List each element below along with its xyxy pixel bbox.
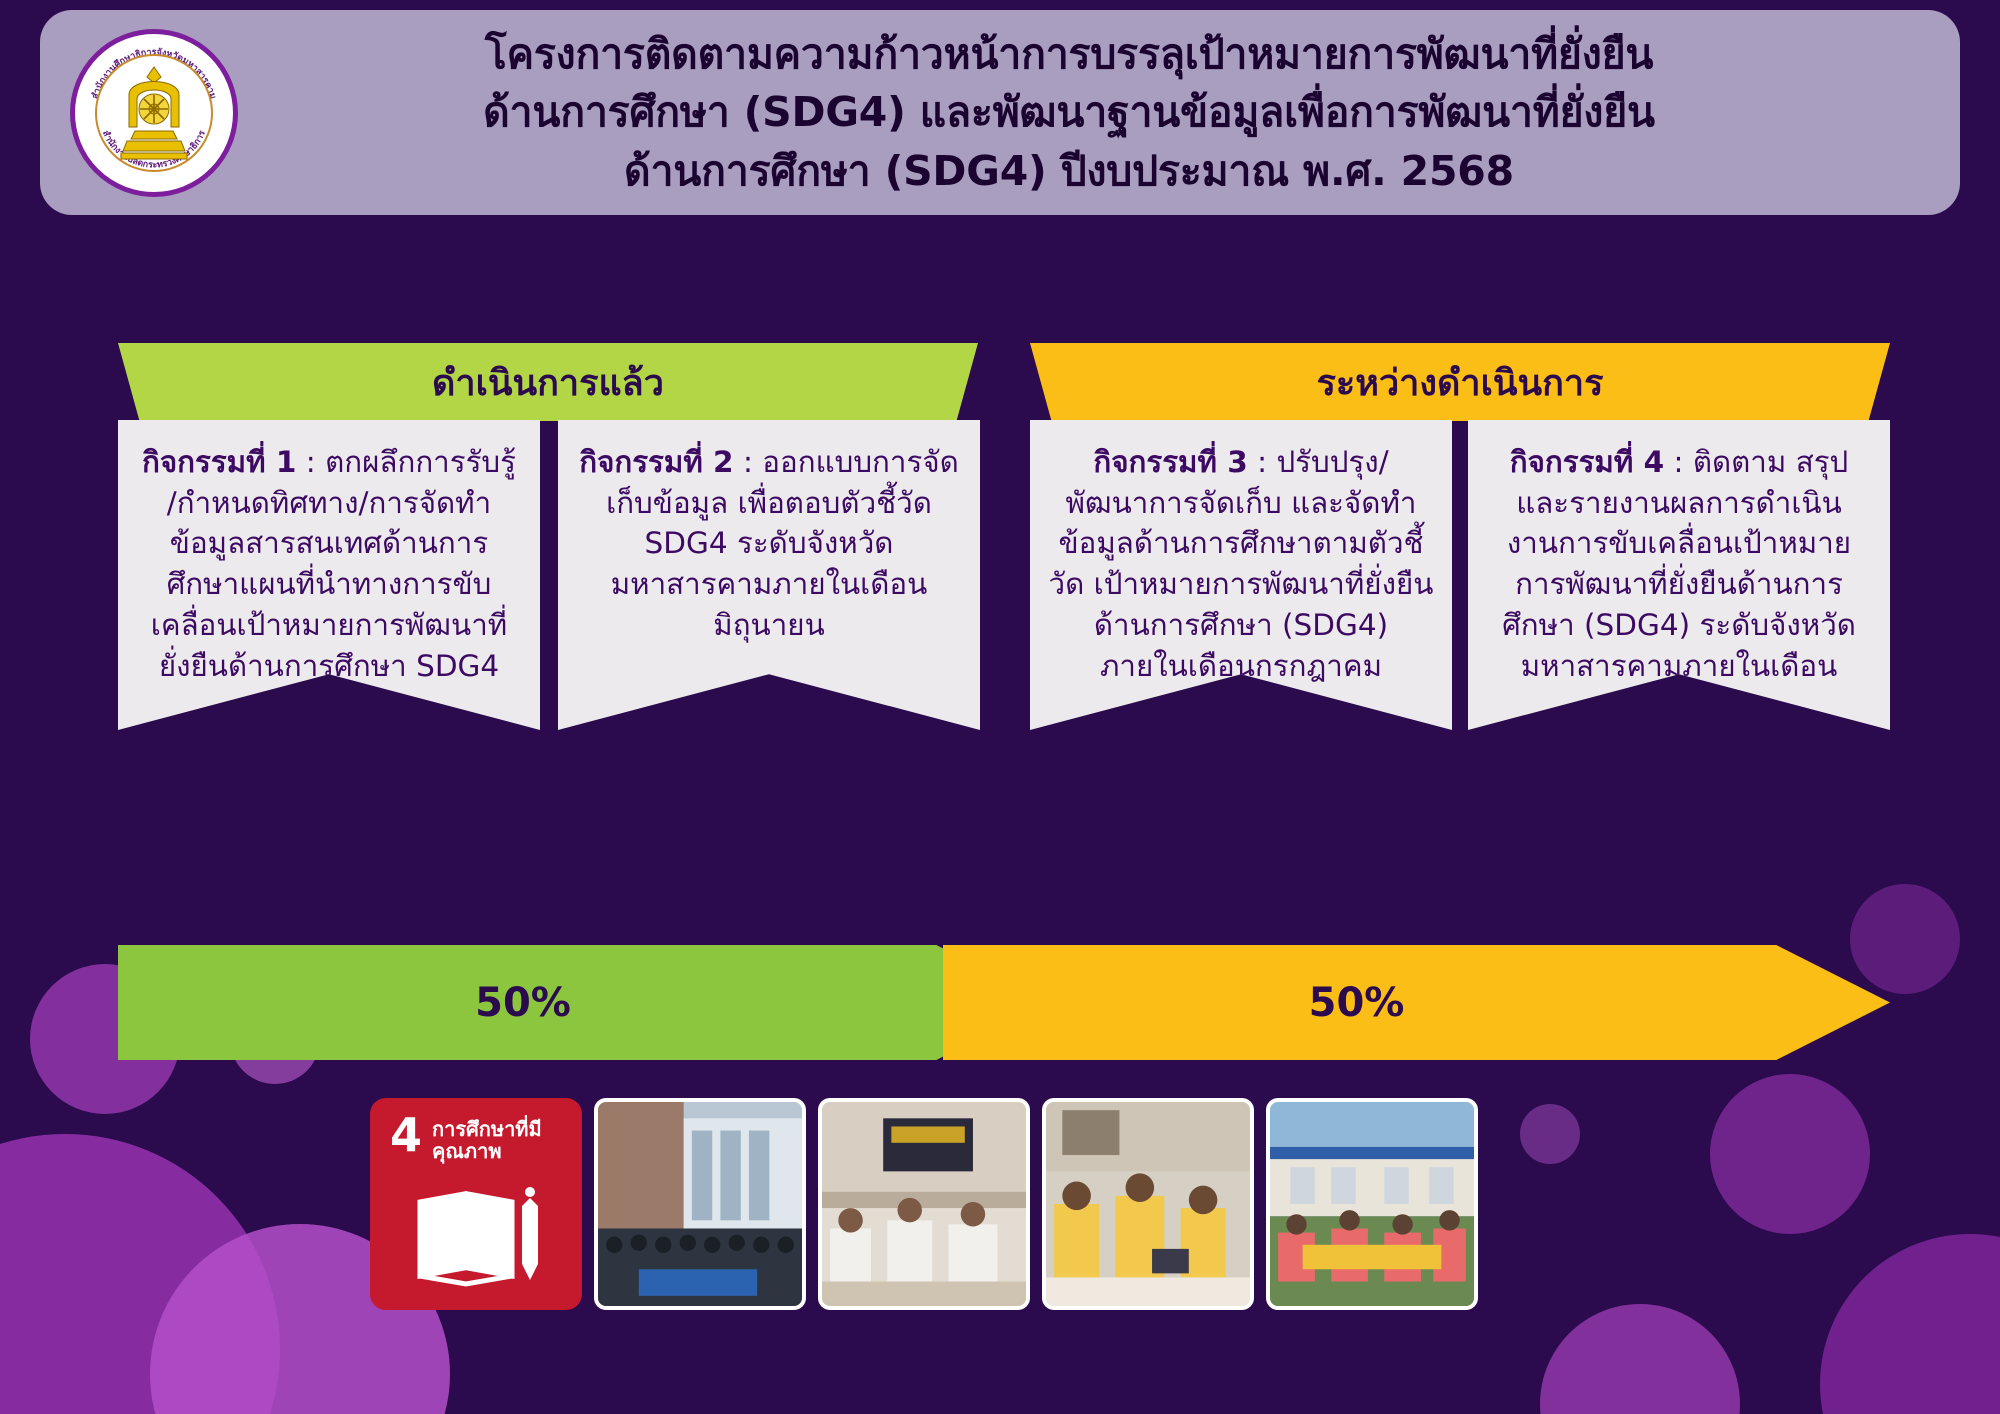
ministry-seal-logo: สำนักงานศึกษาธิการจังหวัดมหาสารคาม สำนัก… (70, 29, 238, 197)
activity-card-2: กิจกรรมที่ 2 : ออกแบบการจัดเก็บข้อมูล เพ… (558, 420, 980, 730)
progress-completed-percent: 50% (475, 980, 571, 1026)
photo-1-graphic (598, 1102, 802, 1306)
photo-seminar-participants (1042, 1098, 1254, 1310)
seal-inner-ring (95, 54, 213, 172)
activity-card-1-separator: : (296, 445, 325, 479)
sdg4-label: การศึกษาที่มีคุณภาพ (432, 1118, 574, 1162)
sdg4-number: 4 (390, 1112, 422, 1158)
infographic-page: สำนักงานศึกษาธิการจังหวัดมหาสารคาม สำนัก… (0, 0, 2000, 1414)
activity-card-1: กิจกรรมที่ 1 : ตกผลึกการรับรู้ /กำหนดทิศ… (118, 420, 540, 730)
status-banner-completed: ดำเนินการแล้ว (118, 343, 978, 421)
photo-4-graphic (1270, 1102, 1474, 1306)
photo-meeting-room-officials (818, 1098, 1030, 1310)
header-panel: สำนักงานศึกษาธิการจังหวัดมหาสารคาม สำนัก… (40, 10, 1960, 215)
activity-card-3-separator: : (1248, 445, 1277, 479)
progress-segment-in-progress: 50% (943, 945, 1890, 1060)
activity-card-4: กิจกรรมที่ 4 : ติดตาม สรุป และรายงานผลกา… (1468, 420, 1890, 730)
activity-card-1-body: ตกผลึกการรับรู้ /กำหนดทิศทาง/การจัดทำข้อ… (151, 445, 516, 723)
progress-bar: 50% 50% (118, 945, 1890, 1060)
status-banner-in-progress: ระหว่างดำเนินการ (1030, 343, 1890, 421)
title-line-1: โครงการติดตามความก้าวหน้าการบรรลุเป้าหมา… (248, 25, 1890, 83)
progress-segment-completed: 50% (118, 945, 1048, 1060)
title-line-3: ด้านการศึกษา (SDG4) ปีงบประมาณ พ.ศ. 2568 (248, 142, 1890, 200)
photo-3-graphic (1046, 1102, 1250, 1306)
activity-card-1-title: กิจกรรมที่ 1 (142, 445, 296, 479)
activity-card-4-body: ติดตาม สรุป และรายงานผลการดำเนินงานการขั… (1502, 445, 1856, 723)
page-title: โครงการติดตามความก้าวหน้าการบรรลุเป้าหมา… (238, 25, 1930, 200)
bottom-gallery: 4 การศึกษาที่มีคุณภาพ (370, 1098, 1478, 1310)
progress-in-progress-percent: 50% (1309, 980, 1405, 1026)
photo-outdoor-group-banner (1266, 1098, 1478, 1310)
activity-card-4-separator: : (1664, 445, 1693, 479)
activity-card-4-title: กิจกรรมที่ 4 (1510, 445, 1664, 479)
activity-card-2-separator: : (734, 445, 763, 479)
dharma-wheel-emblem-icon (111, 65, 197, 161)
photo-group-outside-building (594, 1098, 806, 1310)
activity-card-2-title: กิจกรรมที่ 2 (579, 445, 733, 479)
activity-card-3-title: กิจกรรมที่ 3 (1093, 445, 1247, 479)
title-line-2: ด้านการศึกษา (SDG4) และพัฒนาฐานข้อมูลเพื… (248, 83, 1890, 141)
open-book-and-pencil-icon (412, 1184, 552, 1292)
activity-card-3-body: ปรับปรุง/พัฒนาการจัดเก็บ และจัดทำข้อมูลด… (1049, 445, 1434, 683)
activity-card-3: กิจกรรมที่ 3 : ปรับปรุง/พัฒนาการจัดเก็บ … (1030, 420, 1452, 730)
photo-2-graphic (822, 1102, 1026, 1306)
sdg4-goal-tile: 4 การศึกษาที่มีคุณภาพ (370, 1098, 582, 1310)
